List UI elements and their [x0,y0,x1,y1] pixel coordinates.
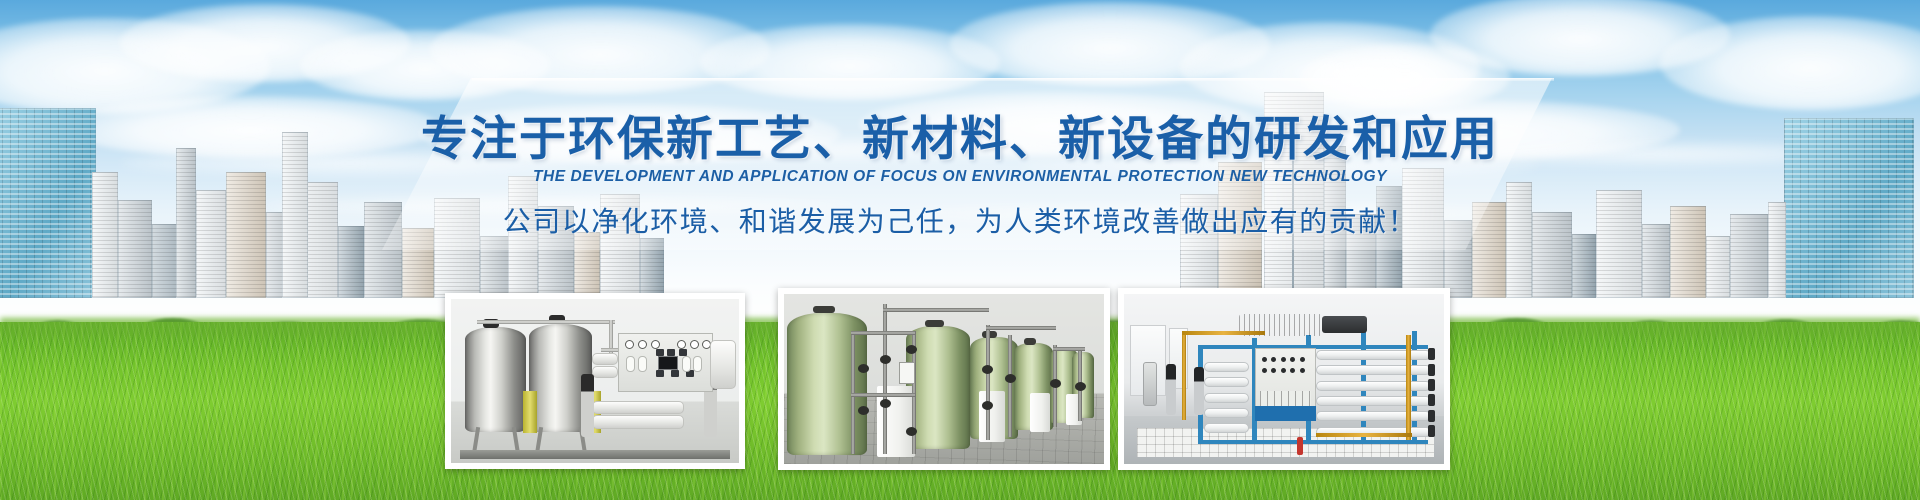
plant-control-cabinet [1255,348,1316,411]
photo-stainless-water-treatment-system[interactable] [445,293,745,469]
subtitle-english: THE DEVELOPMENT AND APPLICATION OF FOCUS… [0,168,1920,186]
ro-control-panel [618,333,713,392]
page-title: 专注于环保新工艺、新材料、新设备的研发和应用 [0,100,1920,169]
hero-banner: 专注于环保新工艺、新材料、新设备的研发和应用 THE DEVELOPMENT A… [0,0,1920,500]
photo-industrial-ro-membrane-plant[interactable] [1118,288,1450,470]
photo-green-frp-filter-tanks[interactable] [778,288,1110,470]
subtitle-chinese: 公司以净化环境、和谐发展为己任，为人类环境改善做出应有的贡献！ [0,200,1920,240]
